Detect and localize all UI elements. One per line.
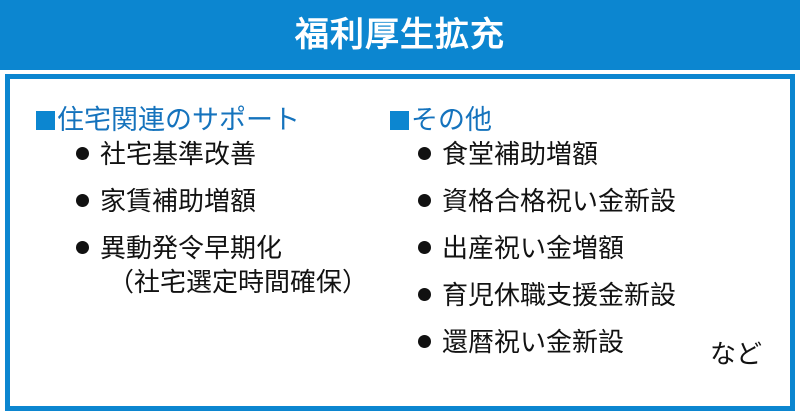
section-heading-label: 住宅関連のサポート (57, 107, 300, 134)
list-item-content: 食堂補助増額 (442, 137, 598, 171)
list-item-content: 育児休職支援金新設 (442, 278, 676, 312)
page-title: 福利厚生拡充 (0, 0, 800, 70)
slide-root: 福利厚生拡充 住宅関連のサポート 社宅基準改善 (0, 0, 800, 416)
list-item-content: 出産祝い金増額 (442, 231, 624, 265)
list-item-label: 出産祝い金増額 (442, 231, 624, 265)
list-item-label: 育児休職支援金新設 (442, 278, 676, 312)
square-marker-icon (36, 111, 55, 130)
list-item: 資格合格祝い金新設 (390, 184, 770, 231)
list-item: 社宅基準改善 (36, 137, 386, 184)
bullet-dot-icon (418, 194, 431, 207)
list-item-label: 家賃補助増額 (100, 184, 256, 218)
bullet-dot-icon (418, 147, 431, 160)
list-item-content: 資格合格祝い金新設 (442, 184, 676, 218)
column-other: その他 食堂補助増額 資格合格祝い金新設 (390, 79, 770, 372)
list-item-content: 異動発令早期化 （社宅選定時間確保） (100, 231, 368, 299)
content-box: 住宅関連のサポート 社宅基準改善 家賃補助増額 (5, 74, 795, 411)
bullet-dot-icon (418, 288, 431, 301)
section-heading-label: その他 (411, 107, 492, 134)
header-band: 福利厚生拡充 (0, 0, 800, 70)
list-item-label: 還暦祝い金新設 (442, 325, 624, 359)
list-item-label: 社宅基準改善 (100, 137, 256, 171)
section-heading-housing-support: 住宅関連のサポート (36, 103, 386, 137)
square-marker-icon (390, 111, 409, 130)
list-item: 出産祝い金増額 (390, 231, 770, 278)
list-item-content: 家賃補助増額 (100, 184, 256, 218)
bullet-dot-icon (76, 194, 89, 207)
bullet-dot-icon (76, 241, 89, 254)
list-item: 家賃補助増額 (36, 184, 386, 231)
bullet-dot-icon (76, 147, 89, 160)
list-item: 育児休職支援金新設 (390, 278, 770, 325)
list-item-label: 資格合格祝い金新設 (442, 184, 676, 218)
content-columns: 住宅関連のサポート 社宅基準改善 家賃補助増額 (10, 79, 790, 406)
list-item-label: 異動発令早期化 (100, 231, 368, 265)
list-item-content: 還暦祝い金新設 (442, 325, 624, 359)
column-housing-support: 住宅関連のサポート 社宅基準改善 家賃補助増額 (36, 79, 386, 278)
list-item-label: 食堂補助増額 (442, 137, 598, 171)
list-item-content: 社宅基準改善 (100, 137, 256, 171)
list-item-sublabel: （社宅選定時間確保） (108, 265, 368, 299)
bullet-list-housing-support: 社宅基準改善 家賃補助増額 異動発令早期化 （社宅選定時間確保） (36, 137, 386, 278)
list-item: 異動発令早期化 （社宅選定時間確保） (36, 231, 386, 278)
etc-label: など (710, 341, 762, 367)
bullet-list-other: 食堂補助増額 資格合格祝い金新設 出産祝い金増額 (390, 137, 770, 372)
bullet-dot-icon (418, 241, 431, 254)
list-item: 食堂補助増額 (390, 137, 770, 184)
section-heading-other: その他 (390, 103, 770, 137)
bullet-dot-icon (418, 335, 431, 348)
